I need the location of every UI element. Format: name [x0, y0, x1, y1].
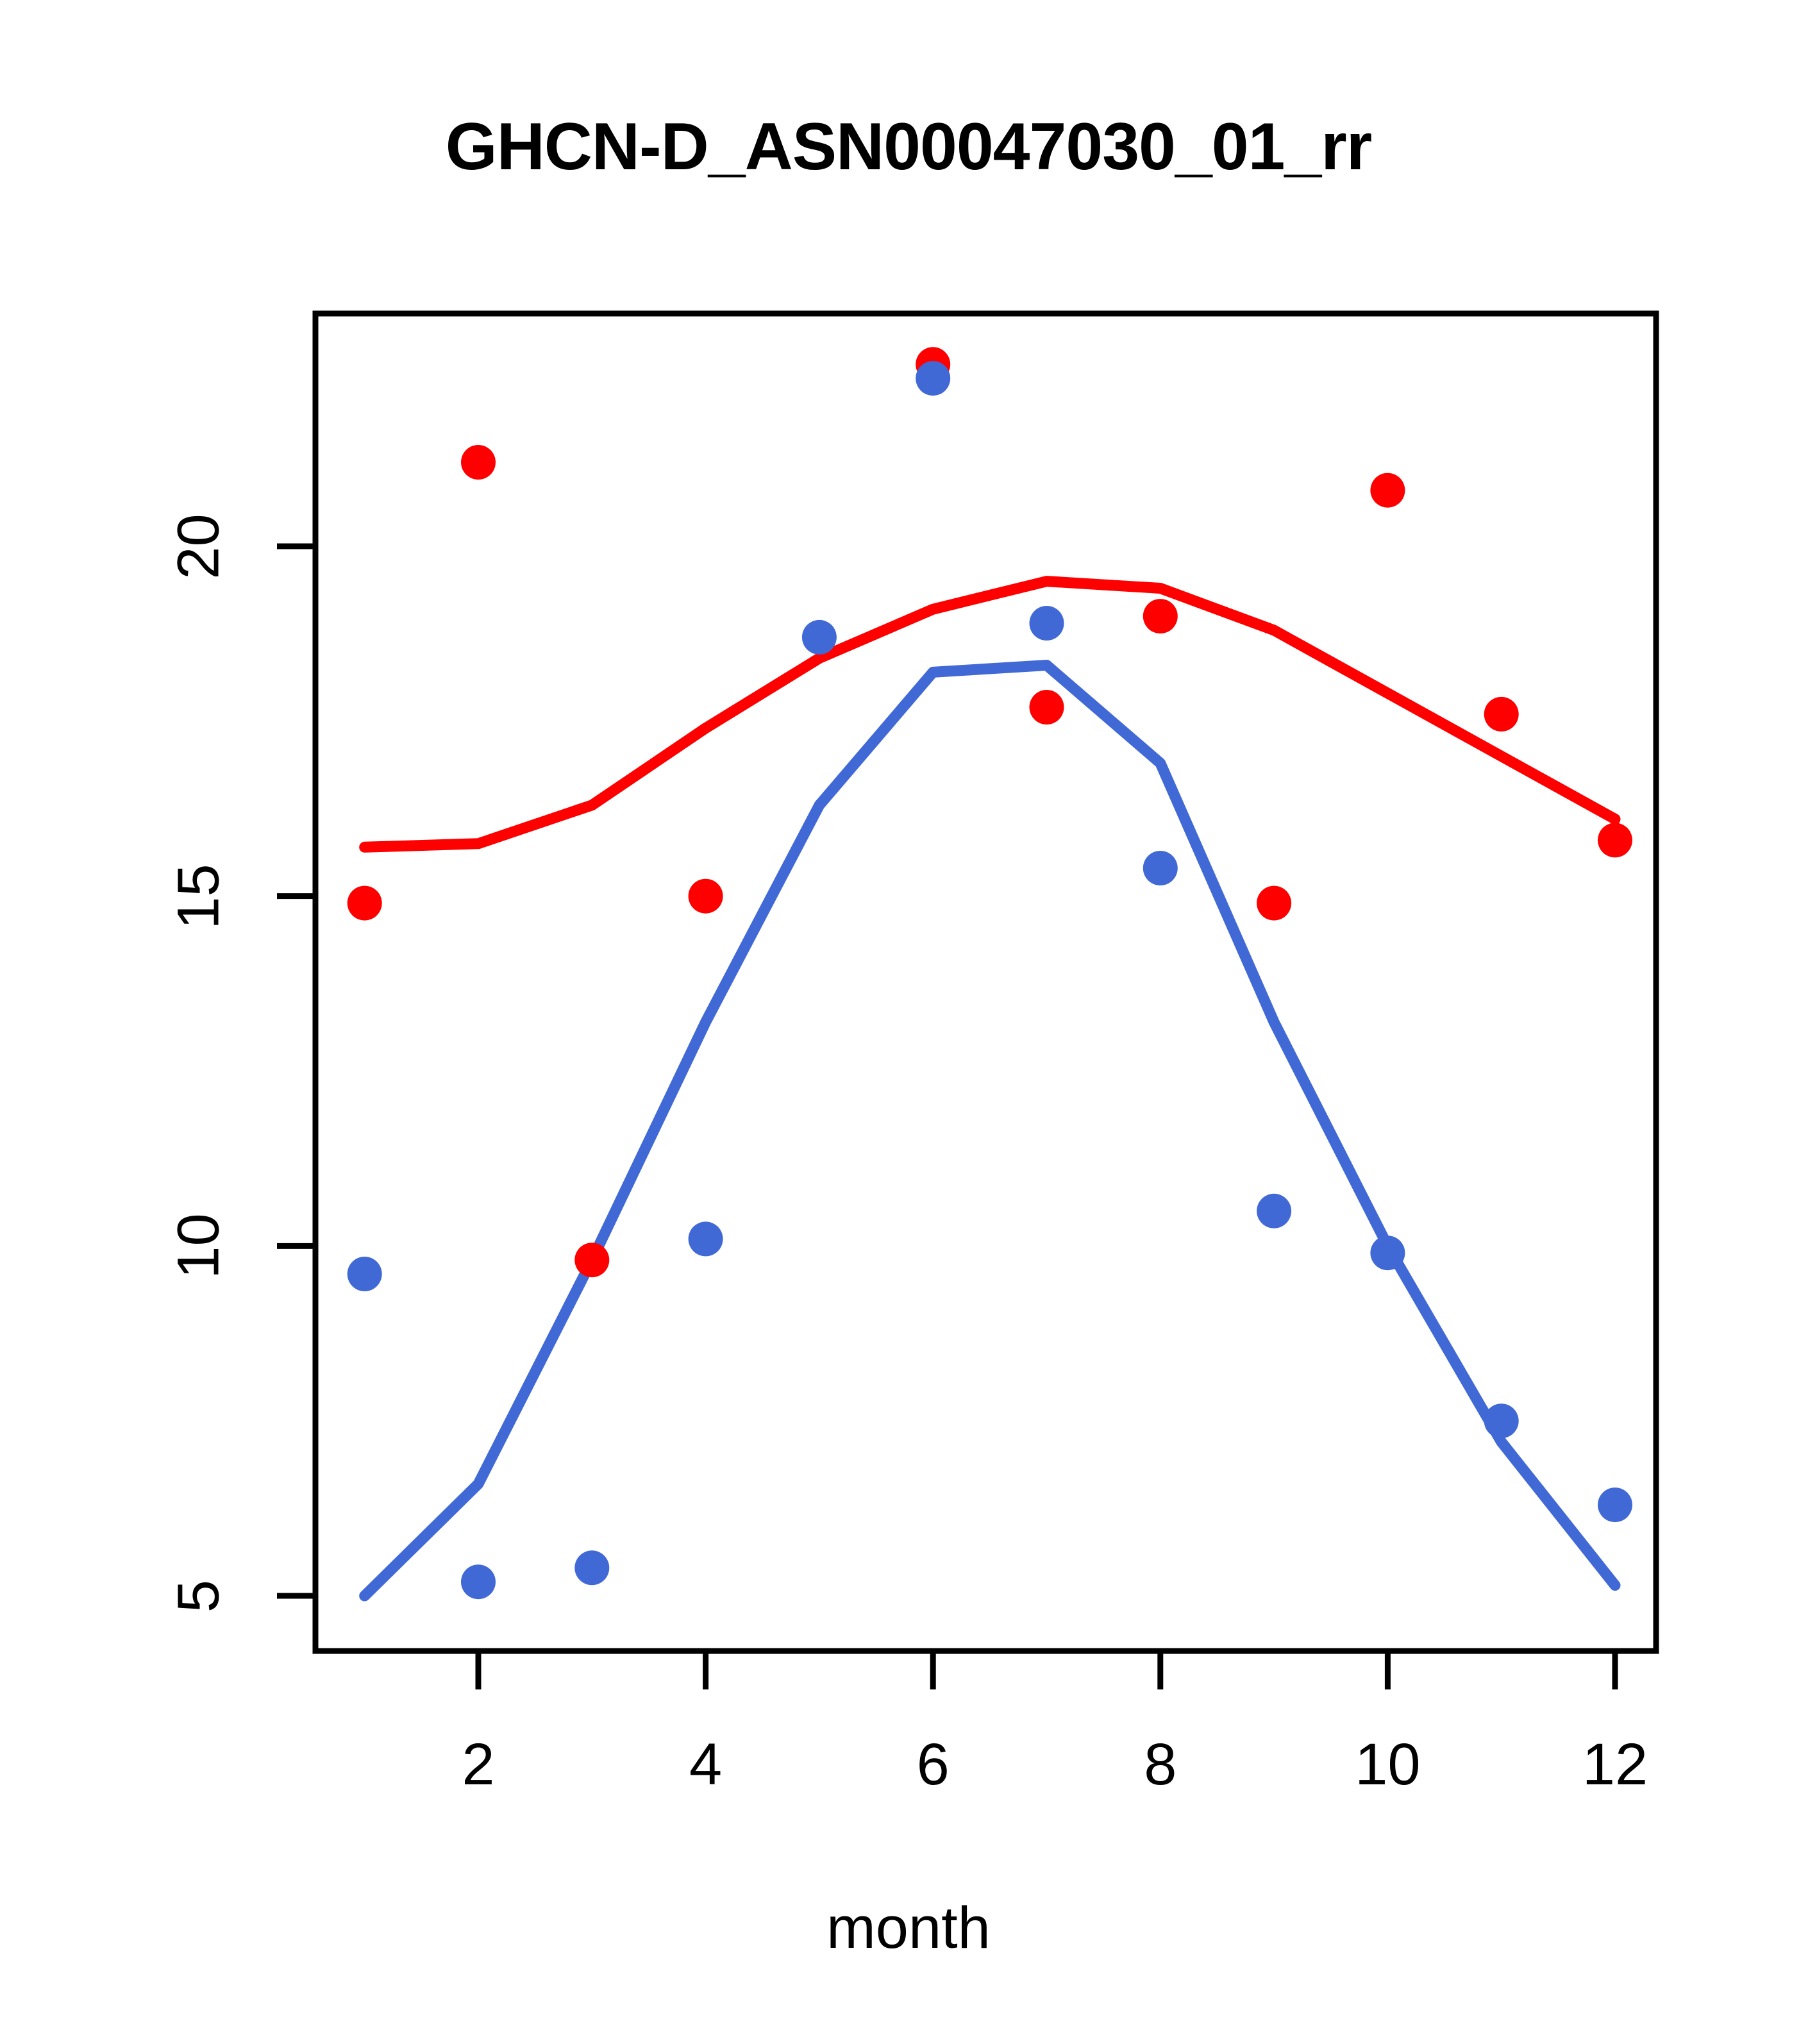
data-point: [1143, 599, 1178, 633]
data-point: [1030, 606, 1064, 641]
data-point: [689, 879, 723, 914]
data-point: [1484, 697, 1519, 732]
x-axis-title: month: [0, 1895, 1817, 1962]
data-point: [1257, 1194, 1291, 1228]
x-axis-ticks: [478, 1651, 1615, 1689]
x-tick-label: 6: [869, 1731, 997, 1798]
data-points-layer: [347, 347, 1632, 1599]
data-point: [1598, 1487, 1632, 1522]
data-point: [574, 1550, 609, 1585]
red-line: [365, 582, 1615, 848]
data-point: [1143, 851, 1178, 885]
data-point: [1257, 886, 1291, 921]
data-point: [461, 445, 496, 480]
data-point: [1030, 690, 1064, 725]
plot-border: [315, 314, 1656, 1651]
data-point: [1370, 1236, 1405, 1270]
x-tick-label: 10: [1323, 1731, 1452, 1798]
data-point: [574, 1243, 609, 1277]
data-point: [1484, 1403, 1519, 1438]
y-tick-label: 15: [165, 845, 233, 948]
data-point: [1598, 823, 1632, 857]
blue-points: [347, 361, 1632, 1599]
y-axis-ticks: [277, 546, 315, 1596]
x-tick-label: 12: [1551, 1731, 1679, 1798]
trend-lines-layer: [365, 582, 1615, 1596]
data-point: [461, 1564, 496, 1599]
data-point: [347, 886, 382, 921]
x-tick-label: 4: [642, 1731, 770, 1798]
data-point: [689, 1221, 723, 1256]
red-points: [347, 347, 1632, 1277]
data-point: [347, 1257, 382, 1291]
y-tick-label: 20: [165, 496, 233, 598]
data-point: [802, 620, 837, 655]
y-tick-label: 10: [165, 1195, 233, 1298]
chart-figure: GHCN-D_ASN00047030_01_rr 5101520 2468101…: [0, 0, 1817, 2044]
y-tick-label: 5: [165, 1545, 233, 1647]
x-tick-label: 8: [1096, 1731, 1225, 1798]
x-tick-label: 2: [414, 1731, 542, 1798]
data-point: [916, 361, 950, 396]
data-point: [1370, 473, 1405, 508]
blue-line: [365, 666, 1615, 1596]
